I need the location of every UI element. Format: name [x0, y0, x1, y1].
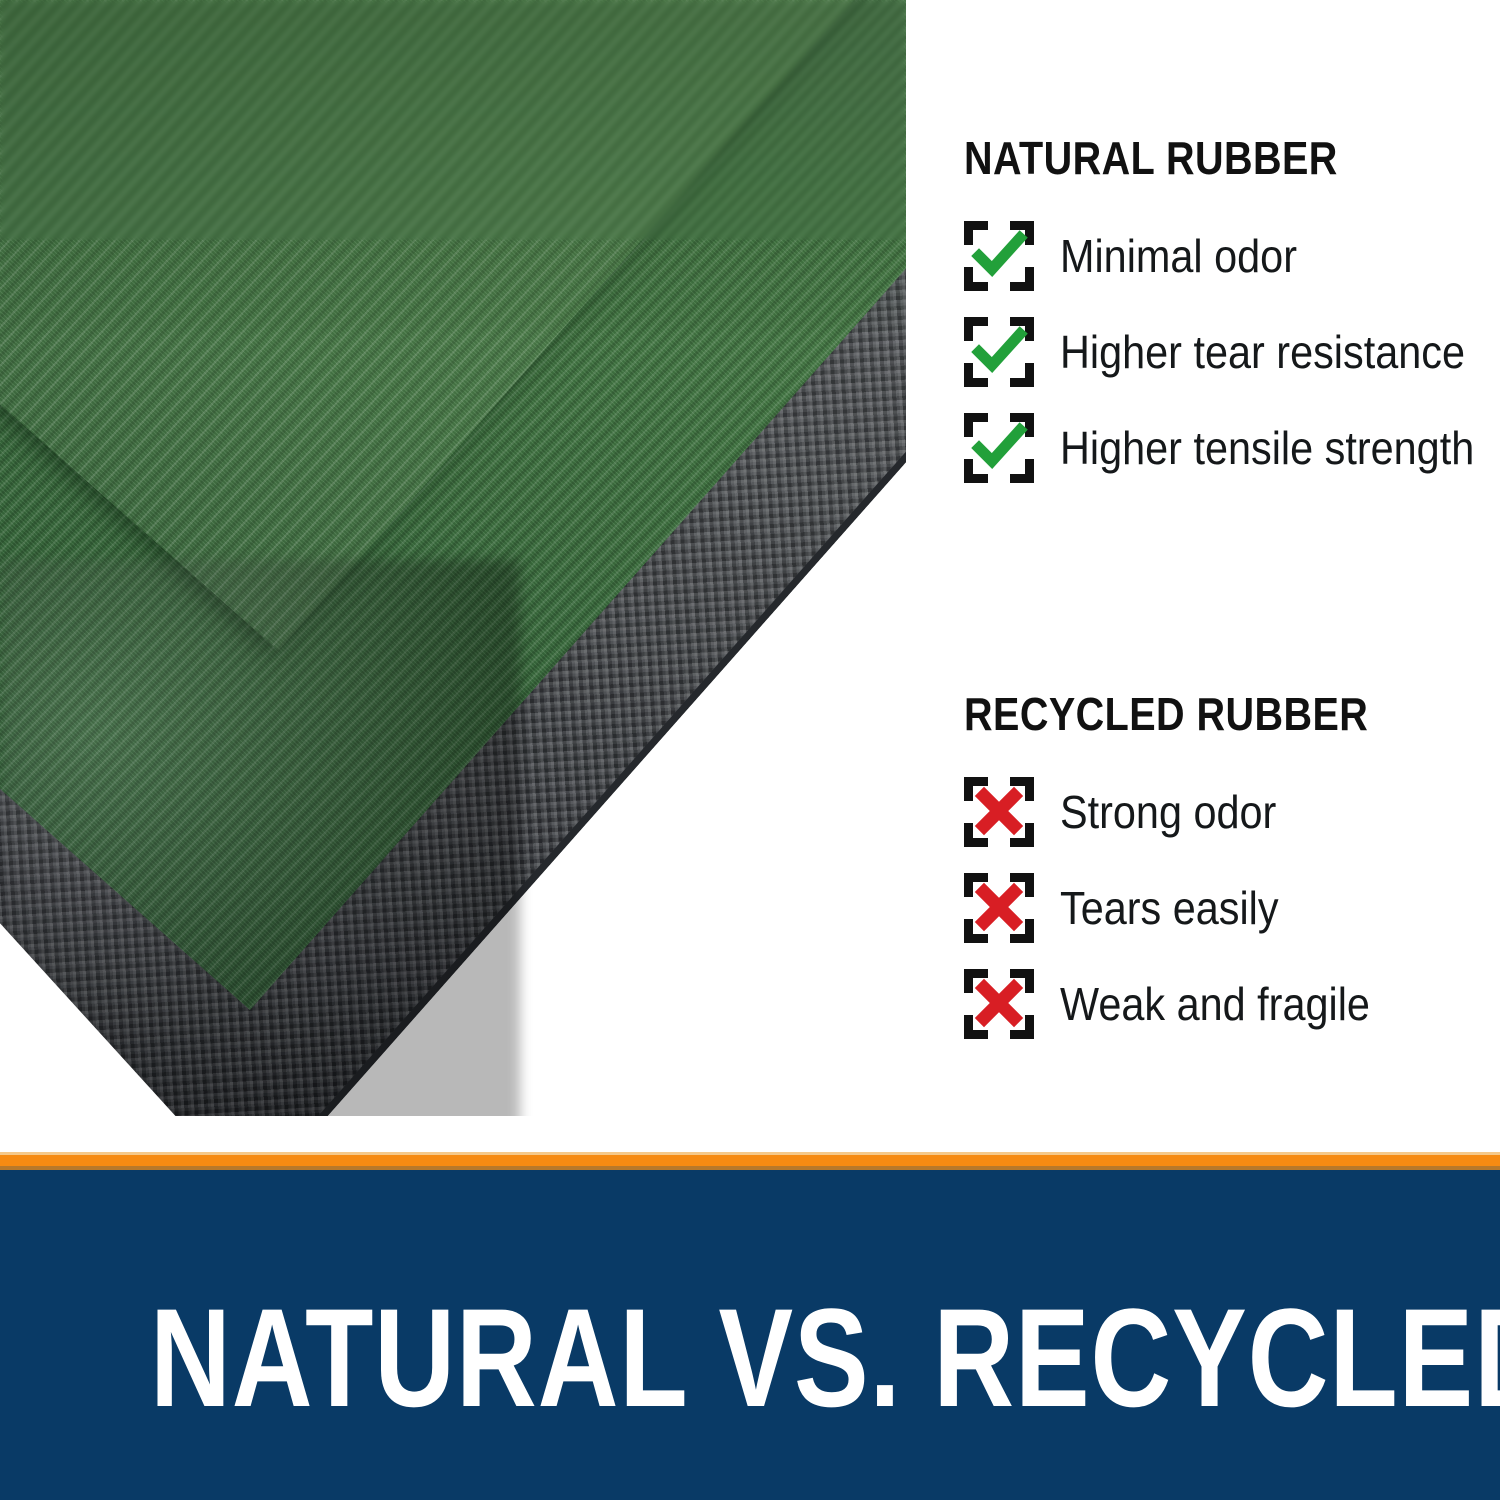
check-in-brackets-icon	[964, 221, 1034, 291]
section-natural-rubber: NATURAL RUBBER Minimal odor	[964, 132, 1500, 496]
list-item: Higher tensile strength	[964, 400, 1500, 496]
cross-in-brackets-icon	[964, 969, 1034, 1039]
natural-rubber-feature-list: Minimal odor Higher tear resistance	[964, 208, 1500, 496]
list-item: Strong odor	[964, 764, 1500, 860]
bottom-banner: NATURAL VS. RECYCLED	[0, 1170, 1500, 1500]
poster-canvas: NATURAL RUBBER Minimal odor	[0, 0, 1500, 1500]
cross-in-brackets-icon	[964, 873, 1034, 943]
list-item-label: Weak and fragile	[1060, 979, 1370, 1029]
list-item-label: Minimal odor	[1060, 231, 1297, 281]
accent-stripe-orange	[0, 1155, 1500, 1166]
list-item-label: Tears easily	[1060, 883, 1279, 933]
recycled-rubber-feature-list: Strong odor Tears easily	[964, 764, 1500, 1052]
list-item: Tears easily	[964, 860, 1500, 956]
list-item: Weak and fragile	[964, 956, 1500, 1052]
check-in-brackets-icon	[964, 317, 1034, 387]
list-item-label: Strong odor	[1060, 787, 1276, 837]
cross-in-brackets-icon	[964, 777, 1034, 847]
check-in-brackets-icon	[964, 413, 1034, 483]
photo-white-base	[0, 1116, 906, 1140]
list-item-label: Higher tensile strength	[1060, 423, 1474, 473]
section-recycled-rubber: RECYCLED RUBBER Strong odor	[964, 688, 1500, 1052]
list-item: Higher tear resistance	[964, 304, 1500, 400]
feature-comparison-panel: NATURAL RUBBER Minimal odor	[906, 0, 1500, 1140]
list-item: Minimal odor	[964, 208, 1500, 304]
list-item-label: Higher tear resistance	[1060, 327, 1465, 377]
section-title-natural-rubber: NATURAL RUBBER	[964, 132, 1425, 184]
product-photo	[0, 0, 906, 1140]
section-title-recycled-rubber: RECYCLED RUBBER	[964, 688, 1425, 740]
page-title: NATURAL VS. RECYCLED	[150, 1288, 1350, 1428]
